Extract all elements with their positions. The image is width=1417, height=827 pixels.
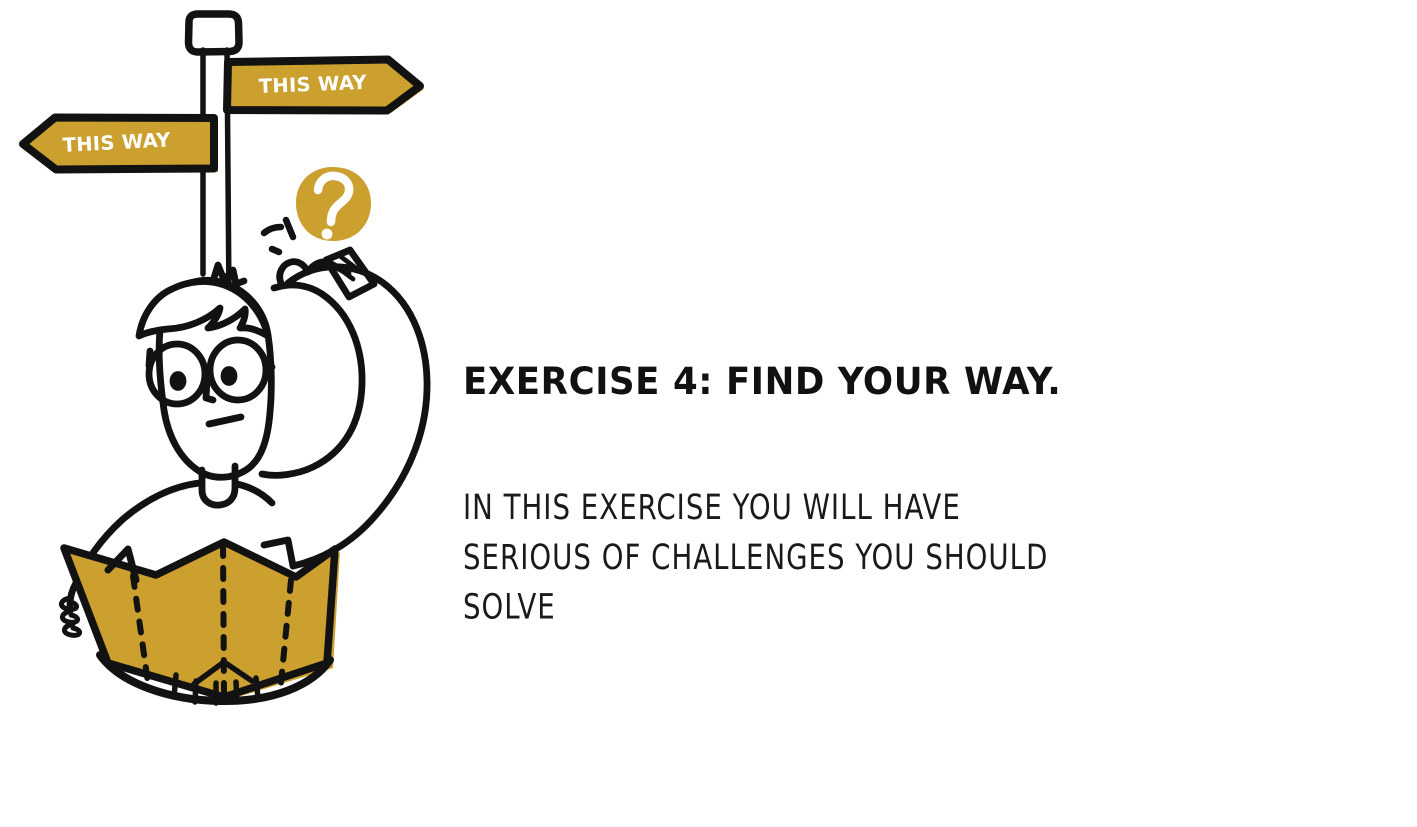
finger-1 (174, 675, 176, 697)
finger-4 (236, 682, 237, 702)
signpost-cap-icon (189, 14, 240, 52)
raised-arm-inner (262, 285, 362, 475)
fingers-left (61, 598, 79, 635)
glasses-rim-left-edge (149, 351, 150, 366)
hair (139, 282, 268, 336)
torso-right-shoulder (237, 484, 272, 503)
finger-5 (256, 678, 258, 698)
mouth (209, 417, 241, 424)
glasses-temple (266, 367, 272, 368)
glasses-bridge (205, 368, 210, 369)
scratch-motion-lines (264, 220, 293, 252)
illustration-confused-boy-signpost: THIS WAY THIS WAY (0, 0, 460, 740)
text-block: EXERCISE 4: FIND YOUR WAY. IN THIS EXERC… (463, 360, 1363, 623)
glasses-lens-right (210, 340, 266, 400)
motion-line-3 (272, 249, 279, 252)
glasses-icon (149, 340, 272, 404)
motion-line-2 (286, 220, 293, 237)
sign-right[interactable]: THIS WAY (227, 60, 424, 114)
body-line-2: SERIOUS OF CHALLENGES YOU SHOULD (463, 531, 1058, 581)
body-line-3: SOLVE (463, 581, 1058, 631)
slide-canvas: THIS WAY THIS WAY (0, 0, 1417, 827)
question-badge (296, 167, 371, 241)
left-finger-2 (62, 611, 77, 622)
page-title: EXERCISE 4: FIND YOUR WAY. (463, 360, 1327, 404)
signpost-group: THIS WAY THIS WAY (23, 14, 424, 300)
sign-right-label: THIS WAY (258, 71, 367, 98)
left-finger-3 (64, 624, 79, 635)
map-fold-2 (223, 545, 224, 692)
eye-left (173, 375, 183, 388)
left-finger-1 (61, 598, 76, 609)
sign-left[interactable]: THIS WAY (23, 118, 218, 174)
eye-right (224, 370, 234, 383)
question-mark-dot (322, 229, 333, 240)
body-copy: IN THIS EXERCISE YOU WILL HAVE SERIOUS O… (463, 482, 1058, 631)
body-line-1: IN THIS EXERCISE YOU WILL HAVE (463, 482, 1058, 532)
motion-line-1 (264, 227, 281, 233)
